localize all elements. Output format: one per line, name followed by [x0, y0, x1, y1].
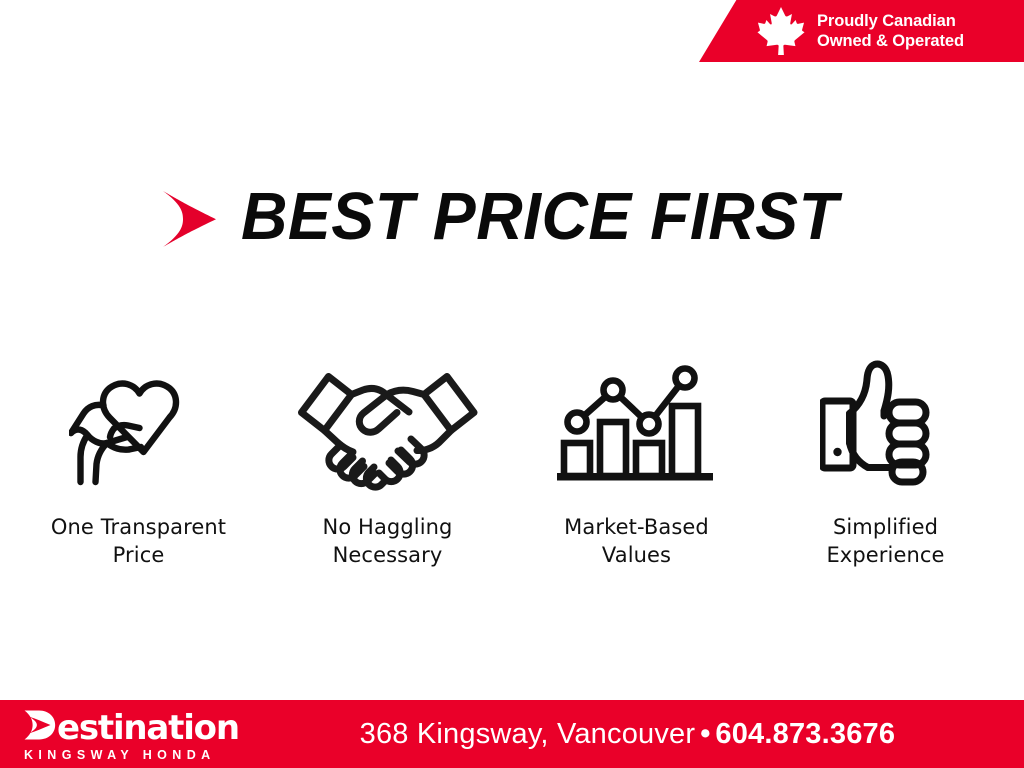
- bar-chart-trend-icon: [557, 360, 717, 492]
- feature-no-haggling-necessary: No Haggling Necessary: [263, 352, 512, 569]
- feature-label: One Transparent Price: [51, 514, 226, 569]
- headline: BEST PRICE FIRST: [0, 178, 1024, 255]
- feature-simplified-experience: Simplified Experience: [761, 352, 1010, 569]
- footer-phone[interactable]: 604.873.3676: [715, 718, 895, 750]
- feature-label: Market-Based Values: [564, 514, 709, 569]
- banner-line-1: Proudly Canadian: [817, 11, 964, 31]
- headline-text: BEST PRICE FIRST: [241, 178, 838, 255]
- thumb-dot: [833, 448, 841, 456]
- dealer-logo[interactable]: estination KINGSWAY HONDA: [0, 706, 239, 762]
- feature-icon-wrap: [820, 352, 952, 492]
- footer-contact: 368 Kingsway, Vancouver•604.873.3676: [239, 718, 1024, 751]
- feature-label: No Haggling Necessary: [323, 514, 453, 569]
- maple-leaf-icon: [757, 6, 805, 56]
- logo-subtitle: KINGSWAY HONDA: [24, 748, 239, 762]
- destination-d-arrow-icon: [22, 708, 56, 742]
- feature-one-transparent-price: One Transparent Price: [14, 352, 263, 569]
- banner-line-2: Owned & Operated: [817, 31, 964, 51]
- feature-icon-wrap: [69, 352, 209, 492]
- footer-bar: estination KINGSWAY HONDA 368 Kingsway, …: [0, 700, 1024, 768]
- feature-row: One Transparent Price: [0, 352, 1024, 569]
- proudly-canadian-banner: Proudly Canadian Owned & Operated: [699, 0, 1024, 62]
- thumbs-up-icon: [820, 359, 952, 492]
- slide-canvas: Proudly Canadian Owned & Operated BEST P…: [0, 0, 1024, 768]
- feature-icon-wrap: [557, 352, 717, 492]
- feature-market-based-values: Market-Based Values: [512, 352, 761, 569]
- red-arrow-icon: [161, 190, 217, 248]
- feature-icon-wrap: [293, 352, 483, 492]
- logo-wordmark: estination: [57, 714, 239, 743]
- hand-holding-heart-icon: [69, 357, 209, 492]
- footer-separator: •: [695, 718, 715, 750]
- footer-address: 368 Kingsway, Vancouver: [360, 718, 696, 750]
- feature-label: Simplified Experience: [826, 514, 944, 569]
- banner-text-block: Proudly Canadian Owned & Operated: [817, 11, 964, 51]
- handshake-icon: [293, 364, 483, 492]
